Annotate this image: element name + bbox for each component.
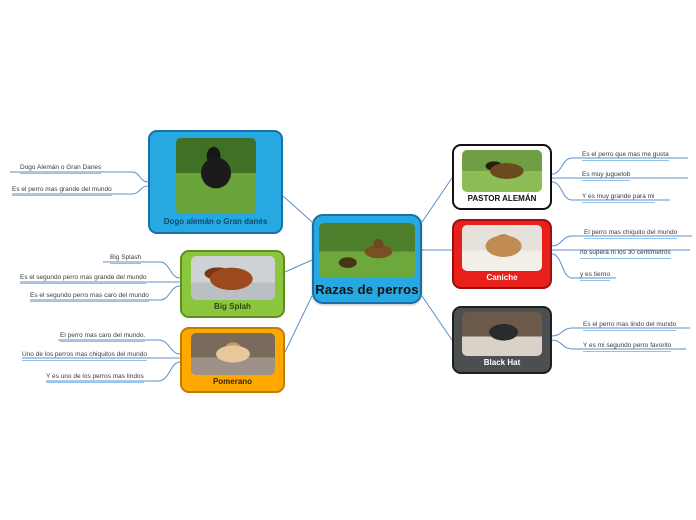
leaf-pastor-2: Es muy juguetob bbox=[582, 170, 630, 181]
leaf-pomerano-3: Y es uno de los perros mas lindos bbox=[46, 372, 144, 383]
branch-node-pastor-aleman-image bbox=[462, 150, 542, 192]
leaf-pomerano-2: Uno de los perros mas chiquitos del mund… bbox=[22, 350, 147, 361]
branch-node-bigsplah-image bbox=[191, 256, 275, 300]
leaf-blackhat-1: Es el perro mas lindo del mundo bbox=[583, 320, 676, 331]
leaf-blackhat-2: Y es mi segundo perro favorito bbox=[583, 341, 671, 352]
center-node-image bbox=[319, 223, 415, 278]
leaf-pomerano-1: El perro mas caro del mundo. bbox=[60, 331, 145, 342]
branch-node-caniche[interactable]: Caniche bbox=[452, 219, 552, 289]
branch-node-bigsplah-label: Big Splah bbox=[214, 303, 251, 311]
branch-node-blackhat-label: Black Hat bbox=[484, 359, 520, 367]
leaf-bigsplah-3: Es el segundo perro mas caro del mundo bbox=[30, 291, 149, 302]
center-node[interactable]: Razas de perros bbox=[312, 214, 422, 304]
leaf-pastor-1: Es el perro que mas me gusta bbox=[582, 150, 669, 161]
branch-node-bigsplah[interactable]: Big Splah bbox=[180, 250, 285, 318]
branch-node-pastor-aleman-label: PASTOR ALEMÁN bbox=[468, 195, 537, 203]
branch-node-dogo[interactable]: Dogo alemán o Gran danés bbox=[148, 130, 283, 234]
branch-node-dogo-image bbox=[176, 138, 256, 214]
leaf-pastor-3: Y es muy grande para mi bbox=[582, 192, 655, 203]
leaf-caniche-2: no supera ni los 30 centímetros bbox=[580, 248, 671, 259]
leaf-caniche-3: y es tierno bbox=[580, 270, 610, 281]
branch-node-caniche-image bbox=[462, 225, 542, 271]
branch-node-blackhat[interactable]: Black Hat bbox=[452, 306, 552, 374]
branch-node-pomerano-image bbox=[191, 333, 275, 375]
leaf-bigsplah-2: Es el segundo perro mas grande del mundo bbox=[20, 273, 146, 284]
branch-node-blackhat-image bbox=[462, 312, 542, 356]
branch-node-pomerano[interactable]: Pomerano bbox=[180, 327, 285, 393]
mindmap-canvas: Razas de perros Dogo alemán o Gran danés… bbox=[0, 0, 696, 520]
leaf-dogo-1: Dogo Alemán o Gran Danes bbox=[20, 163, 101, 174]
leaf-bigsplah-1: Big Splash bbox=[110, 253, 141, 264]
branch-node-pastor-aleman[interactable]: PASTOR ALEMÁN bbox=[452, 144, 552, 210]
branch-node-pomerano-label: Pomerano bbox=[213, 378, 252, 386]
branch-node-dogo-label: Dogo alemán o Gran danés bbox=[164, 218, 268, 226]
branch-node-caniche-label: Caniche bbox=[486, 274, 517, 282]
center-node-label: Razas de perros bbox=[315, 283, 418, 297]
leaf-dogo-2: Es el perro mas grande del mundo bbox=[12, 185, 112, 196]
leaf-caniche-1: El perro mas chiquito del mundo bbox=[584, 228, 677, 239]
